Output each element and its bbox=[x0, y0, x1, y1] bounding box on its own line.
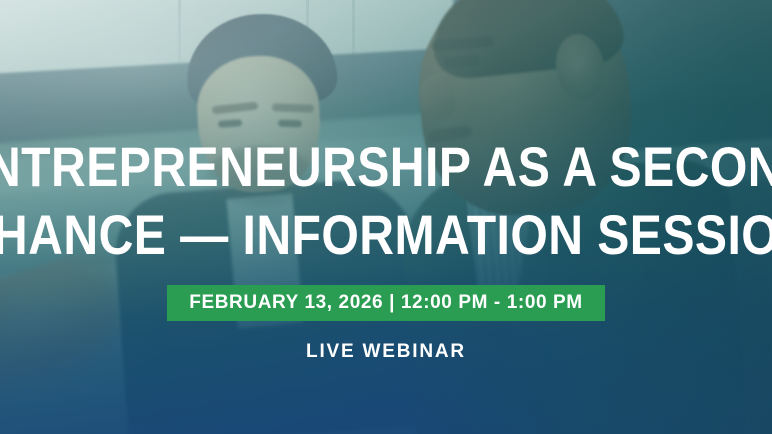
webinar-promo-banner: ENTREPRENEURSHIP AS A SECOND CHANCE — IN… bbox=[0, 0, 772, 434]
banner-title-line-1: ENTREPRENEURSHIP AS A SECOND bbox=[0, 133, 772, 201]
event-date-time-badge: FEBRUARY 13, 2026 | 12:00 PM - 1:00 PM bbox=[167, 285, 605, 321]
banner-title-line-2: CHANCE — INFORMATION SESSION bbox=[0, 201, 772, 269]
banner-content: ENTREPRENEURSHIP AS A SECOND CHANCE — IN… bbox=[0, 0, 772, 434]
event-format-label: LIVE WEBINAR bbox=[306, 341, 466, 363]
